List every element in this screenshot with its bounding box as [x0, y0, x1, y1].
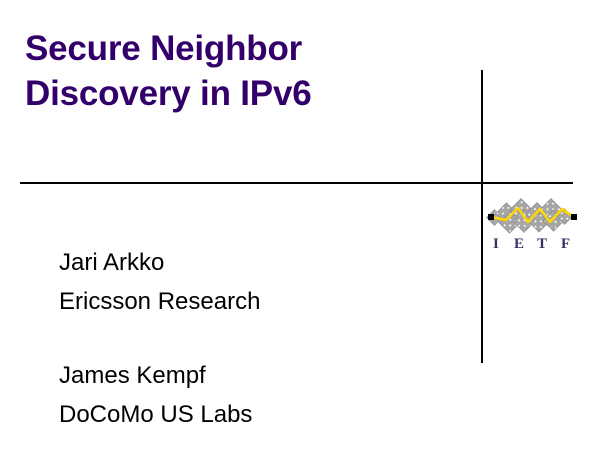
logo-letter-t: T — [537, 236, 547, 252]
slide-title: Secure Neighbor Discovery in IPv6 — [25, 26, 455, 116]
author-2-name: James Kempf — [59, 356, 459, 395]
title-line-2: Discovery in IPv6 — [25, 71, 455, 116]
author-1-affiliation: Ericsson Research — [59, 282, 459, 321]
logo-endpoint-right — [571, 214, 577, 220]
logo-diamonds — [487, 199, 573, 233]
logo-letter-e: E — [514, 236, 524, 252]
logo-letter-i: I — [493, 236, 499, 252]
author-2-affiliation: DoCoMo US Labs — [59, 395, 459, 434]
logo-endpoint-left — [488, 214, 494, 220]
logo-wordmark: I E T F — [493, 236, 570, 252]
title-line-1: Secure Neighbor — [25, 26, 455, 71]
author-spacer — [59, 321, 459, 356]
presentation-slide: Secure Neighbor Discovery in IPv6 Jari A… — [0, 0, 600, 450]
ietf-logo: I E T F — [486, 198, 580, 254]
author-list: Jari Arkko Ericsson Research James Kempf… — [59, 243, 459, 434]
logo-letter-f: F — [561, 236, 570, 252]
author-1-name: Jari Arkko — [59, 243, 459, 282]
horizontal-divider — [20, 182, 573, 184]
vertical-divider — [481, 70, 483, 363]
